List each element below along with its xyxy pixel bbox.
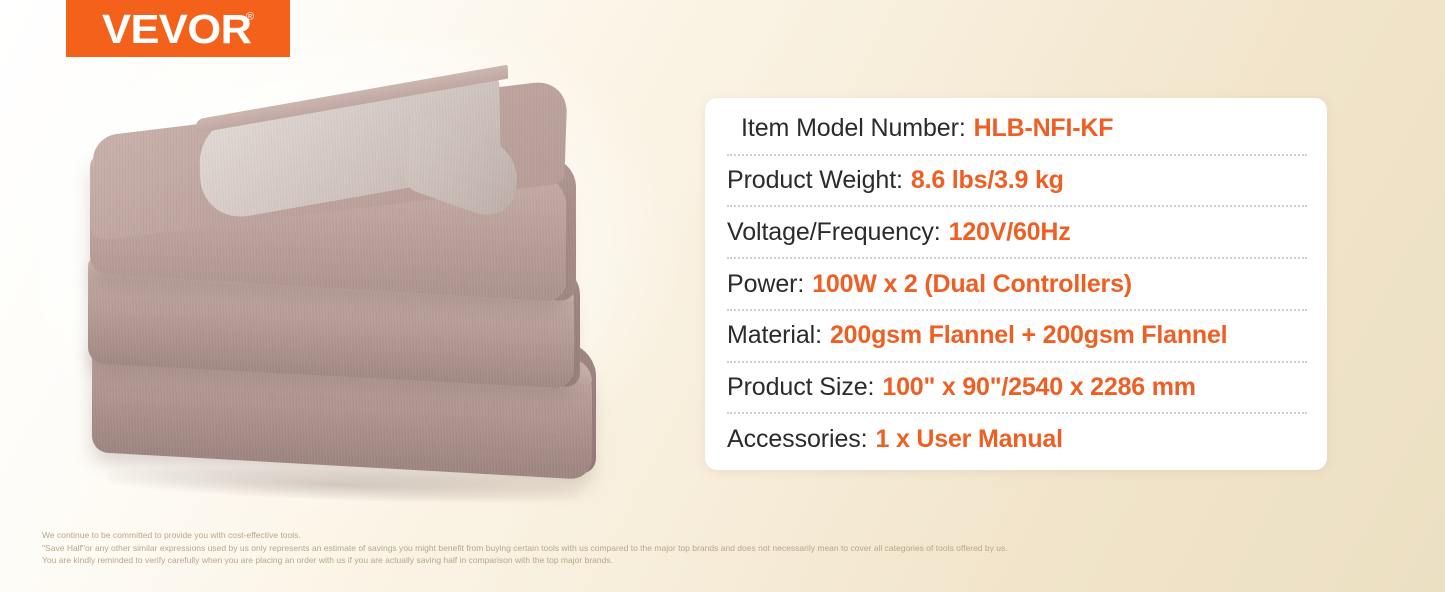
spec-row-voltage-frequency: Voltage/Frequency: 120V/60Hz	[727, 207, 1307, 259]
spec-value: 200gsm Flannel + 200gsm Flannel	[830, 321, 1227, 350]
spec-label: Product Weight:	[727, 166, 903, 195]
disclaimer-text: We continue to be committed to provide y…	[42, 529, 1372, 567]
logo-wordmark: VEVOR	[102, 9, 252, 50]
spec-label: Item Model Number:	[741, 114, 966, 143]
spec-value: 100W x 2 (Dual Controllers)	[812, 270, 1132, 299]
spec-value: HLB-NFI-KF	[974, 114, 1114, 143]
product-image-blanket-stack	[78, 78, 638, 498]
spec-label: Material:	[727, 321, 822, 350]
specification-row-list: Item Model Number: HLB-NFI-KF Product We…	[705, 98, 1327, 470]
spec-value: 120V/60Hz	[949, 218, 1071, 247]
spec-value: 100" x 90"/2540 x 2286 mm	[882, 373, 1195, 402]
disclaimer-line-1: We continue to be committed to provide y…	[42, 529, 1372, 542]
specification-card: Item Model Number: HLB-NFI-KF Product We…	[705, 98, 1327, 470]
spec-row-item-model-number: Item Model Number: HLB-NFI-KF	[727, 104, 1307, 156]
spec-row-accessories: Accessories: 1 x User Manual	[727, 414, 1307, 464]
spec-label: Accessories:	[727, 425, 868, 454]
spec-label: Voltage/Frequency:	[727, 218, 941, 247]
spec-row-product-weight: Product Weight: 8.6 lbs/3.9 kg	[727, 156, 1307, 208]
spec-row-product-size: Product Size: 100" x 90"/2540 x 2286 mm	[727, 363, 1307, 415]
product-spec-banner: VEVOR ® Item Model Number: HLB-NFI-KF Pr…	[0, 0, 1445, 592]
vevor-logo: VEVOR ®	[66, 0, 290, 57]
spec-label: Product Size:	[727, 373, 874, 402]
spec-value: 8.6 lbs/3.9 kg	[911, 166, 1064, 195]
spec-row-power: Power: 100W x 2 (Dual Controllers)	[727, 259, 1307, 311]
logo-wordmark-wrap: VEVOR ®	[102, 9, 254, 50]
spec-label: Power:	[727, 270, 804, 299]
spec-row-material: Material: 200gsm Flannel + 200gsm Flanne…	[727, 311, 1307, 363]
disclaimer-line-2: "Save Half"or any other similar expressi…	[42, 542, 1372, 555]
spec-value: 1 x User Manual	[876, 425, 1063, 454]
disclaimer-line-3: You are kindly reminded to verify carefu…	[42, 554, 1372, 567]
